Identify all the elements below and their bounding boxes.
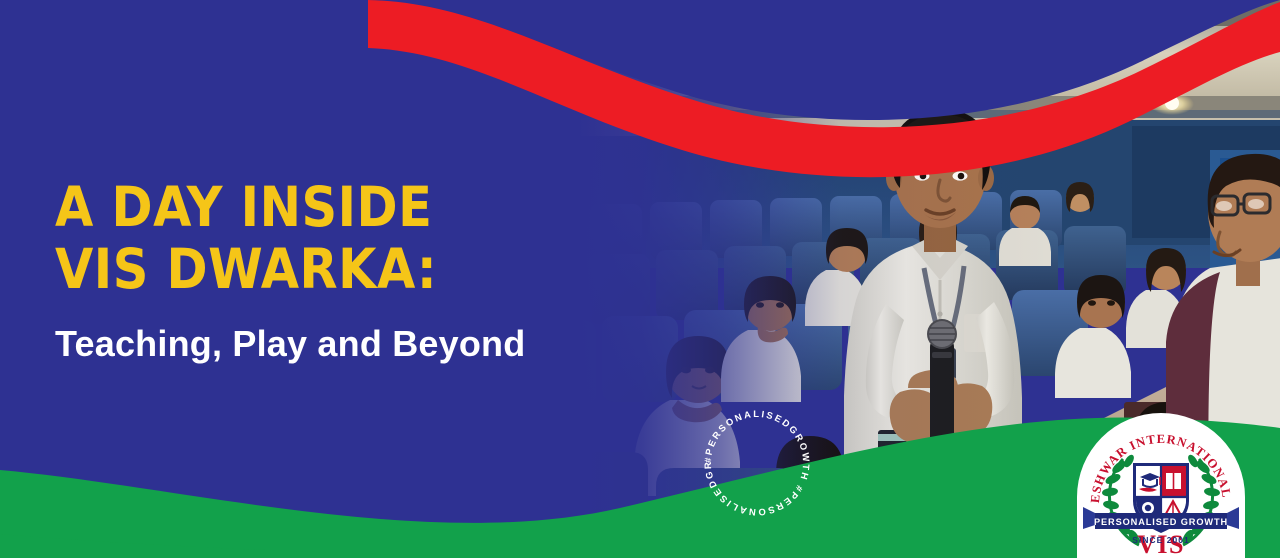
banner-root: A DAY INSIDE VIS DWARKA: Teaching, Play … — [0, 0, 1280, 558]
logo-since-text: SINCE 2001 — [1132, 535, 1190, 545]
page-title: A DAY INSIDE VIS DWARKA: — [55, 176, 575, 300]
headline-block: A DAY INSIDE VIS DWARKA: Teaching, Play … — [55, 176, 575, 366]
logo-ribbon: PERSONALISED GROWTH SINCE 2001 — [1077, 495, 1245, 558]
headline-line-2: VIS DWARKA: — [55, 238, 575, 300]
headline-line-1: A DAY INSIDE — [55, 175, 432, 239]
logo-ribbon-text: PERSONALISED GROWTH — [1094, 517, 1228, 527]
open-book-icon — [1166, 473, 1181, 489]
subtitle: Teaching, Play and Beyond — [55, 322, 575, 366]
stamp-textpath: #PERSONALISEDGROWTH #PERSONALISEDGROWTH — [692, 394, 813, 518]
stamp-text: #PERSONALISEDGROWTH #PERSONALISEDGROWTH — [692, 394, 813, 518]
personalised-growth-stamp: #PERSONALISEDGROWTH #PERSONALISEDGROWTH — [697, 403, 817, 523]
